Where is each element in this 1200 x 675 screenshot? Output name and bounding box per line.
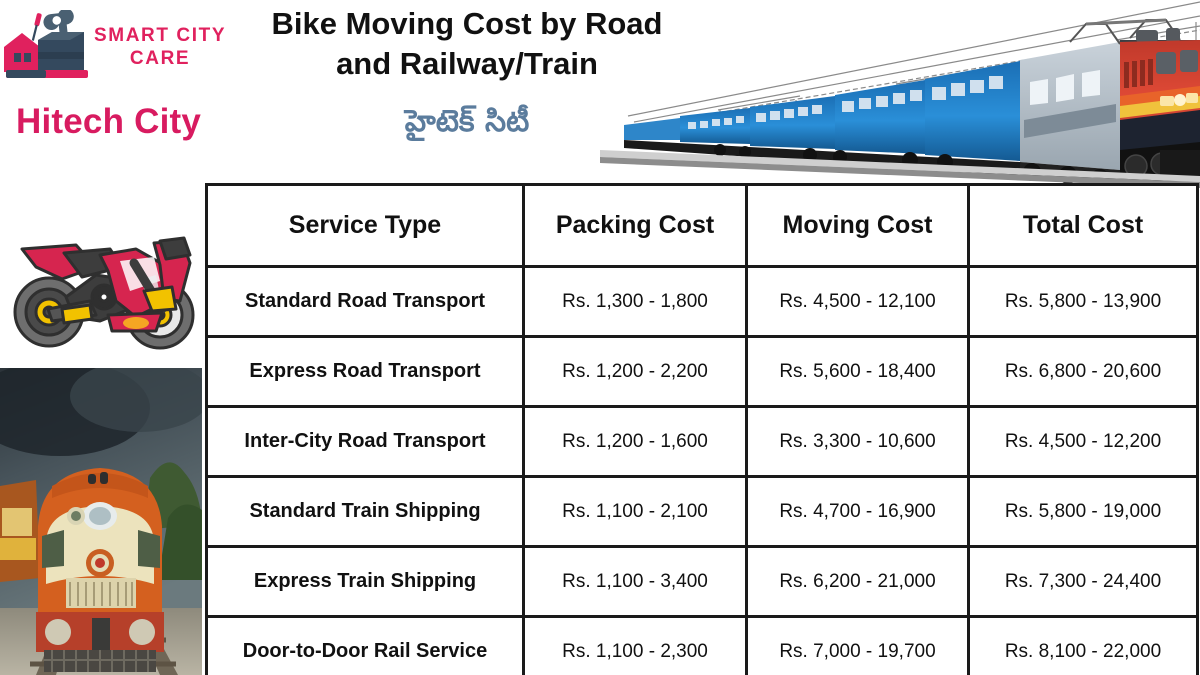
brand-logo-line-2: CARE xyxy=(130,47,190,70)
column-header-service-type: Service Type xyxy=(207,185,524,267)
motorcycle-illustration xyxy=(4,205,202,365)
cell-moving-cost: Rs. 4,500 - 12,100 xyxy=(747,267,969,337)
cell-service-type: Express Road Transport xyxy=(207,337,524,407)
table-row: Express Train Shipping Rs. 1,100 - 3,400… xyxy=(207,547,1198,617)
brand-logo: SMART CITY CARE xyxy=(0,4,240,90)
brand-wordmark: SMART CITY CARE xyxy=(94,24,226,70)
table-row: Standard Train Shipping Rs. 1,100 - 2,10… xyxy=(207,477,1198,547)
cell-moving-cost: Rs. 3,300 - 10,600 xyxy=(747,407,969,477)
cell-service-type: Express Train Shipping xyxy=(207,547,524,617)
cell-total-cost: Rs. 5,800 - 19,000 xyxy=(969,477,1198,547)
table-row: Inter-City Road Transport Rs. 1,200 - 1,… xyxy=(207,407,1198,477)
cell-packing-cost: Rs. 1,100 - 2,300 xyxy=(524,617,747,675)
column-header-total-cost: Total Cost xyxy=(969,185,1198,267)
cell-total-cost: Rs. 5,800 - 13,900 xyxy=(969,267,1198,337)
cell-service-type: Standard Road Transport xyxy=(207,267,524,337)
cell-service-type: Standard Train Shipping xyxy=(207,477,524,547)
train-illustration xyxy=(600,0,1200,192)
table-row: Standard Road Transport Rs. 1,300 - 1,80… xyxy=(207,267,1198,337)
cost-table: Service Type Packing Cost Moving Cost To… xyxy=(205,183,1199,675)
column-header-moving-cost: Moving Cost xyxy=(747,185,969,267)
brand-city-name: Hitech City xyxy=(16,102,236,142)
cell-moving-cost: Rs. 6,200 - 21,000 xyxy=(747,547,969,617)
cell-packing-cost: Rs. 1,200 - 1,600 xyxy=(524,407,747,477)
cell-service-type: Inter-City Road Transport xyxy=(207,407,524,477)
table-header-row: Service Type Packing Cost Moving Cost To… xyxy=(207,185,1198,267)
infographic-page: SMART CITY CARE Hitech City Bike Moving … xyxy=(0,0,1200,675)
photo-watermark: shutterstock xyxy=(0,148,202,176)
brand-logo-line-1: SMART CITY xyxy=(94,24,226,47)
cell-service-type: Door-to-Door Rail Service xyxy=(207,617,524,675)
cell-packing-cost: Rs. 1,200 - 2,200 xyxy=(524,337,747,407)
cell-total-cost: Rs. 7,300 - 24,400 xyxy=(969,547,1198,617)
cell-total-cost: Rs. 4,500 - 12,200 xyxy=(969,407,1198,477)
cell-packing-cost: Rs. 1,100 - 2,100 xyxy=(524,477,747,547)
cell-moving-cost: Rs. 7,000 - 19,700 xyxy=(747,617,969,675)
cell-total-cost: Rs. 8,100 - 22,000 xyxy=(969,617,1198,675)
cell-packing-cost: Rs. 1,300 - 1,800 xyxy=(524,267,747,337)
cell-moving-cost: Rs. 4,700 - 16,900 xyxy=(747,477,969,547)
house-toolbox-icon xyxy=(0,10,92,84)
table-row: Express Road Transport Rs. 1,200 - 2,200… xyxy=(207,337,1198,407)
cell-moving-cost: Rs. 5,600 - 18,400 xyxy=(747,337,969,407)
cell-total-cost: Rs. 6,800 - 20,600 xyxy=(969,337,1198,407)
column-header-packing-cost: Packing Cost xyxy=(524,185,747,267)
cell-packing-cost: Rs. 1,100 - 3,400 xyxy=(524,547,747,617)
table-row: Door-to-Door Rail Service Rs. 1,100 - 2,… xyxy=(207,617,1198,675)
locomotive-photo xyxy=(0,368,202,675)
